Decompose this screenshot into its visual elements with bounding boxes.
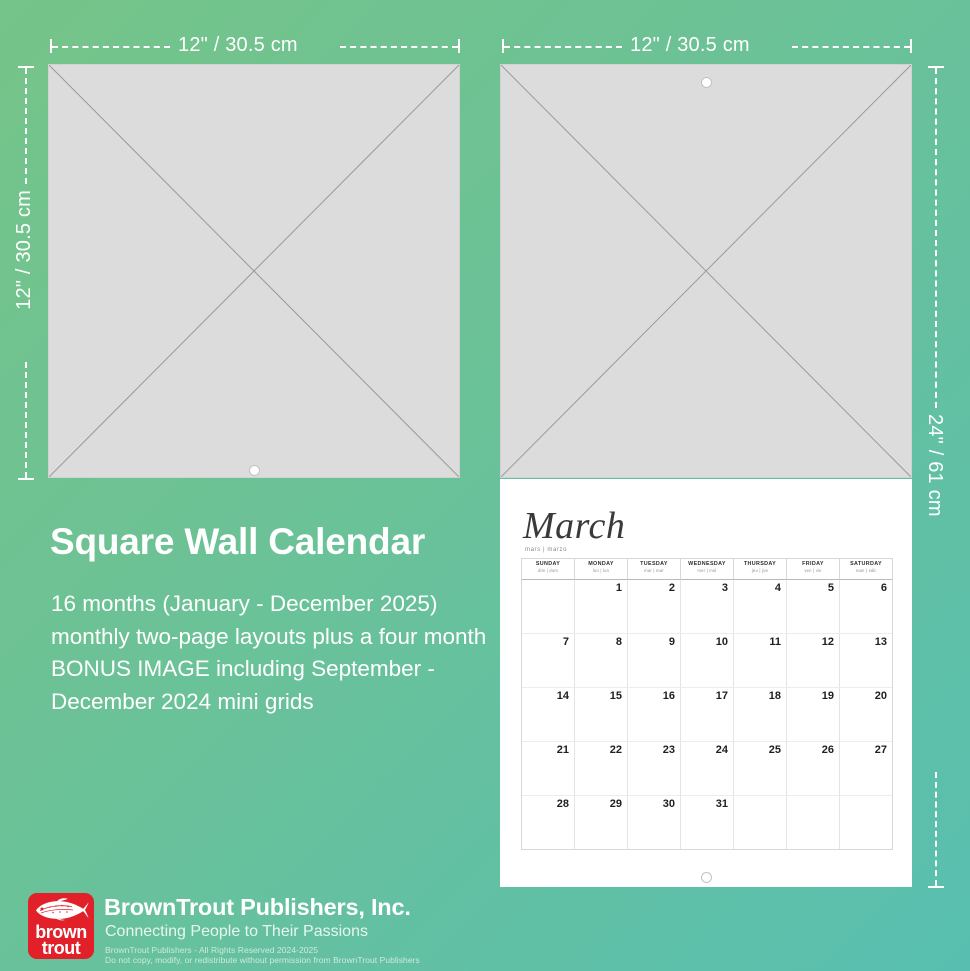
weekday-name: THURSDAY [734, 561, 786, 568]
calendar-week-row: 21222324252627 [522, 742, 892, 796]
calendar-day-24[interactable]: 24 [681, 742, 734, 795]
calendar-weekday-thursday: THURSDAYjeu | jue [734, 559, 787, 580]
calendar-weekday-friday: FRIDAYven | vie [787, 559, 840, 580]
calendar-weeks: 1234567891011121314151617181920212223242… [522, 580, 892, 849]
calendar-day-26[interactable]: 26 [787, 742, 840, 795]
weekday-name-translations: mer | mié [681, 568, 733, 574]
calendar-day-30[interactable]: 30 [628, 796, 681, 849]
calendar-day-12[interactable]: 12 [787, 634, 840, 687]
day-number: 5 [828, 582, 834, 594]
day-number: 13 [875, 636, 887, 648]
weekday-name-translations: mar | mar [628, 568, 680, 574]
calendar-weekday-header-row: SUNDAYdim | domMONDAYlun | lunTUESDAYmar… [522, 559, 892, 580]
placeholder-cross-icon [49, 65, 459, 477]
dim-line-top-left-a [52, 46, 170, 48]
calendar-day-empty [840, 796, 892, 849]
day-number: 7 [563, 636, 569, 648]
day-number: 17 [716, 690, 728, 702]
dim-cap-bottom-right-vertical [928, 886, 944, 888]
calendar-day-9[interactable]: 9 [628, 634, 681, 687]
calendar-day-17[interactable]: 17 [681, 688, 734, 741]
dim-cap-right-top-right [910, 39, 912, 53]
day-number: 12 [822, 636, 834, 648]
brand-name: BrownTrout Publishers, Inc. [104, 894, 411, 921]
calendar-day-7[interactable]: 7 [522, 634, 575, 687]
calendar-day-13[interactable]: 13 [840, 634, 892, 687]
day-number: 27 [875, 744, 887, 756]
logo-word-trout: trout [28, 938, 94, 959]
calendar-day-20[interactable]: 20 [840, 688, 892, 741]
calendar-cover-placeholder [48, 64, 460, 478]
dim-line-top-right-a [504, 46, 622, 48]
dim-line-top-left-b [340, 46, 458, 48]
calendar-weekday-saturday: SATURDAYsam | sáb [840, 559, 892, 580]
calendar-month-subtitle: mars | marzo [525, 547, 567, 553]
product-promo-canvas: 12" / 30.5 cm 12" / 30.5 cm 12" / 30.5 c… [0, 0, 970, 971]
calendar-day-28[interactable]: 28 [522, 796, 575, 849]
weekday-name-translations: ven | vie [787, 568, 839, 574]
day-number: 22 [610, 744, 622, 756]
calendar-day-8[interactable]: 8 [575, 634, 628, 687]
day-number: 25 [769, 744, 781, 756]
calendar-weekday-tuesday: TUESDAYmar | mar [628, 559, 681, 580]
weekday-name-translations: lun | lun [575, 568, 627, 574]
weekday-name-translations: jeu | jue [734, 568, 786, 574]
day-number: 24 [716, 744, 728, 756]
day-number: 29 [610, 798, 622, 810]
weekday-name: MONDAY [575, 561, 627, 568]
dim-line-top-right-b [792, 46, 910, 48]
calendar-image-placeholder [500, 64, 912, 478]
calendar-grid: SUNDAYdim | domMONDAYlun | lunTUESDAYmar… [521, 558, 893, 850]
calendar-day-23[interactable]: 23 [628, 742, 681, 795]
day-number: 16 [663, 690, 675, 702]
page-title: Square Wall Calendar [50, 521, 425, 563]
calendar-grid-page: March mars | marzo SUNDAYdim | domMONDAY… [500, 479, 912, 887]
calendar-weekday-monday: MONDAYlun | lun [575, 559, 628, 580]
calendar-day-10[interactable]: 10 [681, 634, 734, 687]
day-number: 3 [722, 582, 728, 594]
calendar-day-18[interactable]: 18 [734, 688, 787, 741]
dim-label-right-height: 24" / 61 cm [923, 414, 946, 517]
calendar-weekday-sunday: SUNDAYdim | dom [522, 559, 575, 580]
hanging-hole-left [249, 465, 260, 476]
brand-tagline: Connecting People to Their Passions [105, 923, 368, 941]
calendar-day-19[interactable]: 19 [787, 688, 840, 741]
dim-label-left-height: 12" / 30.5 cm [13, 190, 36, 310]
day-number: 4 [775, 582, 781, 594]
weekday-name: WEDNESDAY [681, 561, 733, 568]
weekday-name: FRIDAY [787, 561, 839, 568]
calendar-week-row: 14151617181920 [522, 688, 892, 742]
product-description: 16 months (January - December 2025) mont… [51, 588, 501, 718]
calendar-day-11[interactable]: 11 [734, 634, 787, 687]
dim-line-right-a [935, 68, 937, 408]
day-number: 18 [769, 690, 781, 702]
day-number: 28 [557, 798, 569, 810]
day-number: 23 [663, 744, 675, 756]
calendar-day-empty [734, 796, 787, 849]
calendar-day-31[interactable]: 31 [681, 796, 734, 849]
browntrout-logo: brown trout [28, 893, 94, 959]
calendar-week-row: 123456 [522, 580, 892, 634]
dim-line-right-b [935, 772, 937, 886]
day-number: 2 [669, 582, 675, 594]
day-number: 1 [616, 582, 622, 594]
weekday-name: TUESDAY [628, 561, 680, 568]
calendar-weekday-wednesday: WEDNESDAYmer | mié [681, 559, 734, 580]
calendar-day-15[interactable]: 15 [575, 688, 628, 741]
legal-line-2: Do not copy, modify, or redistribute wit… [105, 955, 420, 965]
calendar-day-4[interactable]: 4 [734, 580, 787, 633]
calendar-week-row: 78910111213 [522, 634, 892, 688]
calendar-day-27[interactable]: 27 [840, 742, 892, 795]
calendar-day-14[interactable]: 14 [522, 688, 575, 741]
calendar-day-5[interactable]: 5 [787, 580, 840, 633]
calendar-day-25[interactable]: 25 [734, 742, 787, 795]
weekday-name: SATURDAY [840, 561, 892, 568]
legal-line-1: BrownTrout Publishers - All Rights Reser… [105, 945, 318, 955]
day-number: 15 [610, 690, 622, 702]
day-number: 19 [822, 690, 834, 702]
weekday-name-translations: dim | dom [522, 568, 574, 574]
day-number: 21 [557, 744, 569, 756]
weekday-name-translations: sam | sáb [840, 568, 892, 574]
calendar-day-3[interactable]: 3 [681, 580, 734, 633]
placeholder-cross-icon [501, 65, 911, 477]
calendar-day-2[interactable]: 2 [628, 580, 681, 633]
weekday-name: SUNDAY [522, 561, 574, 568]
calendar-day-6[interactable]: 6 [840, 580, 892, 633]
day-number: 8 [616, 636, 622, 648]
calendar-day-16[interactable]: 16 [628, 688, 681, 741]
calendar-day-21[interactable]: 21 [522, 742, 575, 795]
calendar-day-empty [787, 796, 840, 849]
trout-fish-icon [33, 897, 89, 923]
dim-cap-right-top-left [458, 39, 460, 53]
day-number: 31 [716, 798, 728, 810]
hanging-hole-right-bottom [701, 872, 712, 883]
day-number: 11 [769, 636, 781, 648]
dim-line-left-a [25, 68, 27, 184]
hanging-hole-right-top [701, 77, 712, 88]
calendar-day-29[interactable]: 29 [575, 796, 628, 849]
calendar-day-1[interactable]: 1 [575, 580, 628, 633]
dim-label-top-left: 12" / 30.5 cm [178, 34, 298, 57]
day-number: 14 [557, 690, 569, 702]
calendar-month-title: March [523, 507, 625, 545]
day-number: 9 [669, 636, 675, 648]
calendar-week-row: 28293031 [522, 796, 892, 849]
day-number: 6 [881, 582, 887, 594]
dim-label-top-right: 12" / 30.5 cm [630, 34, 750, 57]
dim-line-left-b [25, 362, 27, 478]
calendar-day-22[interactable]: 22 [575, 742, 628, 795]
dim-cap-bottom-left-vertical [18, 478, 34, 480]
day-number: 26 [822, 744, 834, 756]
day-number: 10 [716, 636, 728, 648]
calendar-day-empty [522, 580, 575, 633]
day-number: 30 [663, 798, 675, 810]
footer: brown trout BrownTrout Publishers, Inc. … [28, 893, 948, 965]
day-number: 20 [875, 690, 887, 702]
